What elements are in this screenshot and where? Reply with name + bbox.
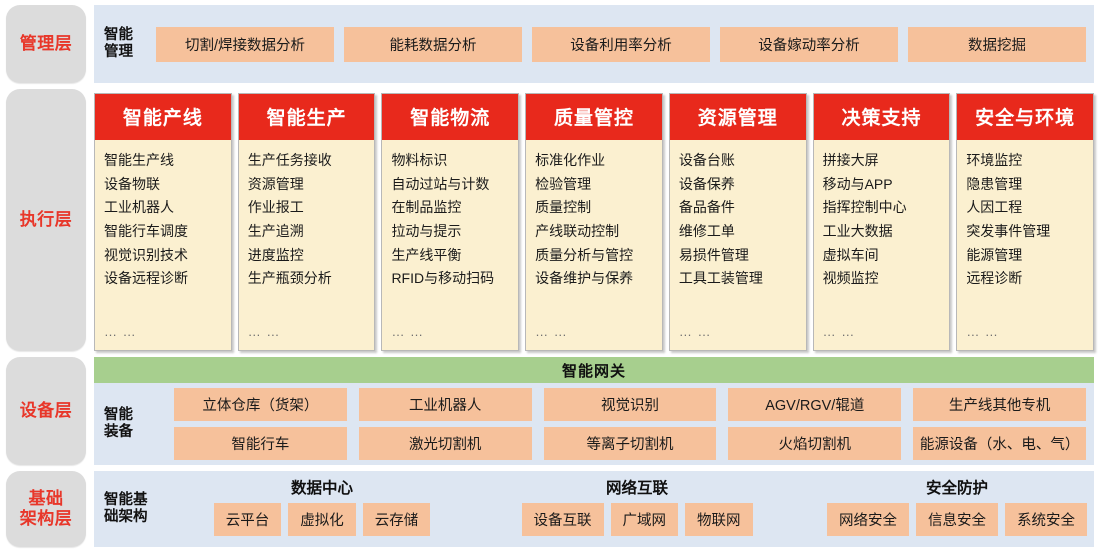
execution-item[interactable]: 产线联动控制 [535, 220, 662, 243]
execution-column-title: 安全与环境 [957, 94, 1093, 140]
execution-item[interactable]: 设备物联 [104, 173, 231, 196]
device-chip[interactable]: 等离子切割机 [544, 427, 717, 460]
layer-label-management: 管理层 [6, 5, 86, 83]
execution-item[interactable]: 指挥控制中心 [823, 196, 950, 219]
execution-item[interactable]: 检验管理 [535, 173, 662, 196]
device-chip[interactable]: 智能行车 [174, 427, 347, 460]
device-column: 视觉识别 等离子切割机 [544, 388, 717, 460]
device-chip[interactable]: 火焰切割机 [728, 427, 901, 460]
layer-label-execution-text: 执行层 [20, 210, 73, 230]
infrastructure-chip[interactable]: 物联网 [685, 503, 753, 536]
infrastructure-chip[interactable]: 信息安全 [916, 503, 998, 536]
infrastructure-side-label: 智能基 础架构 [104, 492, 166, 527]
layer-label-device-text: 设备层 [20, 401, 73, 421]
execution-item[interactable]: 标准化作业 [535, 149, 662, 172]
execution-column-items: 拼接大屏 移动与APP 指挥控制中心 工业大数据 虚拟车间 视频监控 … … [814, 140, 950, 350]
execution-layer-columns: 智能产线 智能生产线 设备物联 工业机器人 智能行车调度 视觉识别技术 设备远程… [94, 93, 1094, 351]
execution-column-title: 资源管理 [670, 94, 806, 140]
execution-item[interactable]: 移动与APP [823, 173, 950, 196]
device-chip[interactable]: 激光切割机 [359, 427, 532, 460]
infrastructure-group-title: 数据中心 [291, 476, 353, 498]
execution-column-items: 智能生产线 设备物联 工业机器人 智能行车调度 视觉识别技术 设备远程诊断 … … [95, 140, 231, 350]
device-column: AGV/RGV/辊道 火焰切割机 [728, 388, 901, 460]
infrastructure-groups: 数据中心 云平台 虚拟化 云存储 网络互联 设备互联 广域网 物联网 [172, 471, 1098, 547]
execution-item[interactable]: 生产瓶颈分析 [248, 267, 375, 290]
execution-item[interactable]: 设备维护与保养 [535, 267, 662, 290]
execution-item[interactable]: 易损件管理 [679, 244, 806, 267]
execution-item[interactable]: 拉动与提示 [391, 220, 518, 243]
execution-column-items: 物料标识 自动过站与计数 在制品监控 拉动与提示 生产线平衡 RFID与移动扫码… [382, 140, 518, 350]
management-layer-panel: 智能 管理 切割/焊接数据分析 能耗数据分析 设备利用率分析 设备嫁动率分析 数… [94, 5, 1094, 83]
execution-column-smart-production-line[interactable]: 智能产线 智能生产线 设备物联 工业机器人 智能行车调度 视觉识别技术 设备远程… [94, 93, 232, 351]
execution-item[interactable]: 能源管理 [966, 244, 1093, 267]
device-column: 工业机器人 激光切割机 [359, 388, 532, 460]
infrastructure-chip[interactable]: 网络安全 [827, 503, 909, 536]
architecture-diagram: 管理层 执行层 设备层 基础 架构层 智能 管理 切割/焊接数据分析 能耗数据分… [0, 0, 1098, 552]
execution-item-ellipsis: … … [391, 321, 518, 344]
execution-column-items: 生产任务接收 资源管理 作业报工 生产追溯 进度监控 生产瓶颈分析 … … [239, 140, 375, 350]
execution-column-quality-control[interactable]: 质量管控 标准化作业 检验管理 质量控制 产线联动控制 质量分析与管控 设备维护… [525, 93, 663, 351]
infrastructure-chip[interactable]: 云平台 [214, 503, 282, 536]
execution-item[interactable]: 工业大数据 [823, 220, 950, 243]
infrastructure-layer-panel: 智能基 础架构 数据中心 云平台 虚拟化 云存储 网络互联 设备互联 广域网 [94, 471, 1094, 547]
execution-item[interactable]: 设备保养 [679, 173, 806, 196]
execution-item[interactable]: 虚拟车间 [823, 244, 950, 267]
execution-item[interactable]: 拼接大屏 [823, 149, 950, 172]
execution-item[interactable]: 远程诊断 [966, 267, 1093, 290]
infrastructure-chip-list: 云平台 虚拟化 云存储 [172, 503, 472, 536]
infrastructure-chip[interactable]: 设备互联 [522, 503, 604, 536]
device-chip[interactable]: 工业机器人 [359, 388, 532, 421]
execution-item[interactable]: 进度监控 [248, 244, 375, 267]
management-chip[interactable]: 设备利用率分析 [532, 27, 710, 62]
execution-item[interactable]: 生产任务接收 [248, 149, 375, 172]
execution-item[interactable]: 视频监控 [823, 267, 950, 290]
management-chip[interactable]: 能耗数据分析 [344, 27, 522, 62]
execution-item-ellipsis: … … [104, 321, 231, 344]
execution-item[interactable]: 备品备件 [679, 196, 806, 219]
execution-column-title: 决策支持 [814, 94, 950, 140]
execution-item[interactable]: 质量控制 [535, 196, 662, 219]
infrastructure-chip[interactable]: 广域网 [611, 503, 679, 536]
infrastructure-group-security: 安全防护 网络安全 信息安全 系统安全 [802, 476, 1098, 536]
execution-column-smart-manufacturing[interactable]: 智能生产 生产任务接收 资源管理 作业报工 生产追溯 进度监控 生产瓶颈分析 …… [238, 93, 376, 351]
layer-label-execution: 执行层 [6, 89, 86, 351]
execution-item[interactable]: 维修工单 [679, 220, 806, 243]
infrastructure-group-title: 安全防护 [926, 476, 988, 498]
execution-column-safety-environment[interactable]: 安全与环境 环境监控 隐患管理 人因工程 突发事件管理 能源管理 远程诊断 … … [956, 93, 1094, 351]
execution-item[interactable]: 工具工装管理 [679, 267, 806, 290]
execution-item-ellipsis: … … [535, 321, 662, 344]
smart-gateway-bar: 智能网关 [94, 357, 1094, 383]
execution-column-items: 环境监控 隐患管理 人因工程 突发事件管理 能源管理 远程诊断 … … [957, 140, 1093, 350]
execution-item[interactable]: 视觉识别技术 [104, 244, 231, 267]
execution-item[interactable]: 智能行车调度 [104, 220, 231, 243]
layer-label-infrastructure: 基础 架构层 [6, 471, 86, 547]
device-chip[interactable]: 立体仓库（货架） [174, 388, 347, 421]
execution-item[interactable]: 人因工程 [966, 196, 1093, 219]
device-chip[interactable]: 能源设备（水、电、气） [913, 427, 1086, 460]
execution-item[interactable]: 突发事件管理 [966, 220, 1093, 243]
management-chip-list: 切割/焊接数据分析 能耗数据分析 设备利用率分析 设备嫁动率分析 数据挖掘 [156, 27, 1086, 62]
execution-item[interactable]: 智能生产线 [104, 149, 231, 172]
execution-item[interactable]: RFID与移动扫码 [391, 267, 518, 290]
execution-column-smart-logistics[interactable]: 智能物流 物料标识 自动过站与计数 在制品监控 拉动与提示 生产线平衡 RFID… [381, 93, 519, 351]
device-side-label: 智能 装备 [104, 407, 166, 442]
management-side-label: 智能 管理 [104, 27, 150, 62]
infrastructure-chip[interactable]: 系统安全 [1005, 503, 1087, 536]
device-layer-panel: 智能网关 智能 装备 立体仓库（货架） 智能行车 工业机器人 激光切割机 视觉识… [94, 357, 1094, 465]
infrastructure-group-data-center: 数据中心 云平台 虚拟化 云存储 [172, 476, 472, 536]
infrastructure-chip[interactable]: 云存储 [363, 503, 431, 536]
device-chip[interactable]: AGV/RGV/辊道 [728, 388, 901, 421]
infrastructure-chip-list: 网络安全 信息安全 系统安全 [802, 503, 1098, 536]
device-column: 立体仓库（货架） 智能行车 [174, 388, 347, 460]
infrastructure-group-network: 网络互联 设备互联 广域网 物联网 [472, 476, 802, 536]
execution-item[interactable]: 自动过站与计数 [391, 173, 518, 196]
smart-gateway-label: 智能网关 [562, 360, 626, 381]
infrastructure-chip[interactable]: 虚拟化 [288, 503, 356, 536]
execution-item-ellipsis: … … [823, 321, 950, 344]
execution-item[interactable]: 生产追溯 [248, 220, 375, 243]
infrastructure-chip-list: 设备互联 广域网 物联网 [472, 503, 802, 536]
execution-column-title: 智能产线 [95, 94, 231, 140]
execution-item[interactable]: 在制品监控 [391, 196, 518, 219]
execution-column-title: 智能物流 [382, 94, 518, 140]
execution-item[interactable]: 隐患管理 [966, 173, 1093, 196]
execution-item[interactable]: 质量分析与管控 [535, 244, 662, 267]
layer-label-infrastructure-text: 基础 架构层 [20, 489, 73, 528]
execution-item[interactable]: 物料标识 [391, 149, 518, 172]
device-column: 生产线其他专机 能源设备（水、电、气） [913, 388, 1086, 460]
execution-item[interactable]: 工业机器人 [104, 196, 231, 219]
execution-item[interactable]: 生产线平衡 [391, 244, 518, 267]
execution-item[interactable]: 设备台账 [679, 149, 806, 172]
management-chip[interactable]: 切割/焊接数据分析 [156, 27, 334, 62]
management-chip[interactable]: 数据挖掘 [908, 27, 1086, 62]
execution-item[interactable]: 作业报工 [248, 196, 375, 219]
execution-item-ellipsis: … … [679, 321, 806, 344]
device-chip[interactable]: 视觉识别 [544, 388, 717, 421]
execution-column-decision-support[interactable]: 决策支持 拼接大屏 移动与APP 指挥控制中心 工业大数据 虚拟车间 视频监控 … [813, 93, 951, 351]
execution-column-resource-management[interactable]: 资源管理 设备台账 设备保养 备品备件 维修工单 易损件管理 工具工装管理 … … [669, 93, 807, 351]
execution-column-items: 标准化作业 检验管理 质量控制 产线联动控制 质量分析与管控 设备维护与保养 …… [526, 140, 662, 350]
execution-item-ellipsis: … … [966, 321, 1093, 344]
execution-column-title: 质量管控 [526, 94, 662, 140]
execution-item[interactable]: 资源管理 [248, 173, 375, 196]
execution-item-ellipsis: … … [248, 321, 375, 344]
management-chip[interactable]: 设备嫁动率分析 [720, 27, 898, 62]
infrastructure-group-title: 网络互联 [606, 476, 668, 498]
device-chip[interactable]: 生产线其他专机 [913, 388, 1086, 421]
execution-item[interactable]: 设备远程诊断 [104, 267, 231, 290]
layer-label-device: 设备层 [6, 357, 86, 465]
execution-item[interactable]: 环境监控 [966, 149, 1093, 172]
layer-label-management-text: 管理层 [20, 34, 73, 54]
device-chip-grid: 立体仓库（货架） 智能行车 工业机器人 激光切割机 视觉识别 等离子切割机 AG… [174, 388, 1086, 460]
execution-column-items: 设备台账 设备保养 备品备件 维修工单 易损件管理 工具工装管理 … … [670, 140, 806, 350]
execution-column-title: 智能生产 [239, 94, 375, 140]
